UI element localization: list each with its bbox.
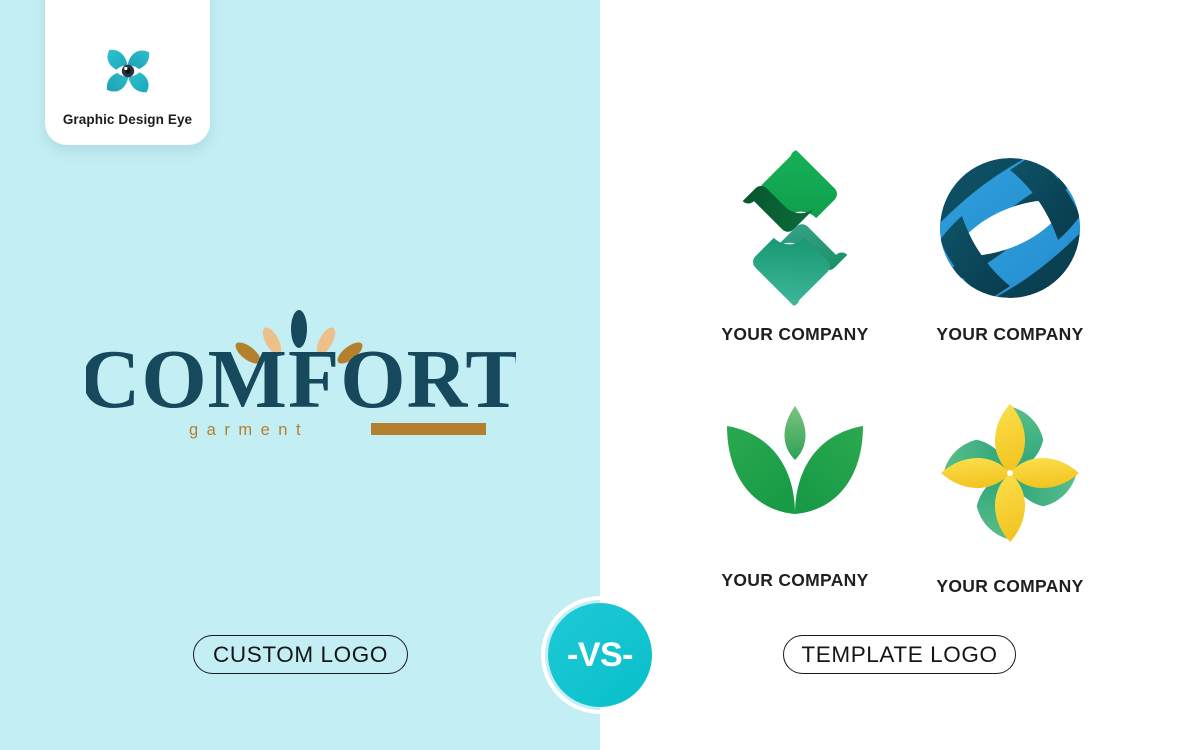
flower-bloom-icon	[935, 398, 1085, 548]
template-item-flower-bloom[interactable]: YOUR COMPANY	[915, 398, 1105, 597]
template-logo-pill[interactable]: TEMPLATE LOGO	[783, 635, 1016, 674]
pinwheel-diamond-icon	[715, 148, 875, 308]
comfort-logo: .cm-word { font-family: "Liberation Seri…	[86, 305, 516, 455]
gold-bar-icon	[371, 423, 486, 435]
custom-logo-pill[interactable]: CUSTOM LOGO	[193, 635, 408, 674]
template-label: YOUR COMPANY	[721, 324, 868, 345]
comparison-canvas: Graphic Design Eye .cm-word { font-famil…	[0, 0, 1200, 750]
swirl-circle-icon	[930, 148, 1090, 308]
comfort-wordmark: COMFORT	[86, 333, 516, 426]
template-item-pinwheel-diamond[interactable]: YOUR COMPANY	[700, 148, 890, 345]
template-label: YOUR COMPANY	[936, 576, 1083, 597]
brand-card: Graphic Design Eye	[45, 0, 210, 145]
template-item-swirl-circle[interactable]: YOUR COMPANY	[915, 148, 1105, 345]
custom-logo-pill-label: CUSTOM LOGO	[213, 642, 388, 668]
eye-pinwheel-icon	[96, 40, 160, 102]
comfort-tagline: garment	[189, 421, 309, 439]
brand-name: Graphic Design Eye	[63, 112, 192, 127]
template-label: YOUR COMPANY	[936, 324, 1083, 345]
template-label: YOUR COMPANY	[721, 570, 868, 591]
template-logo-pill-label: TEMPLATE LOGO	[801, 642, 997, 668]
versus-badge-icon	[540, 595, 660, 715]
template-item-leaf-sprout[interactable]: YOUR COMPANY	[700, 398, 890, 591]
leaf-sprout-icon	[715, 398, 875, 548]
